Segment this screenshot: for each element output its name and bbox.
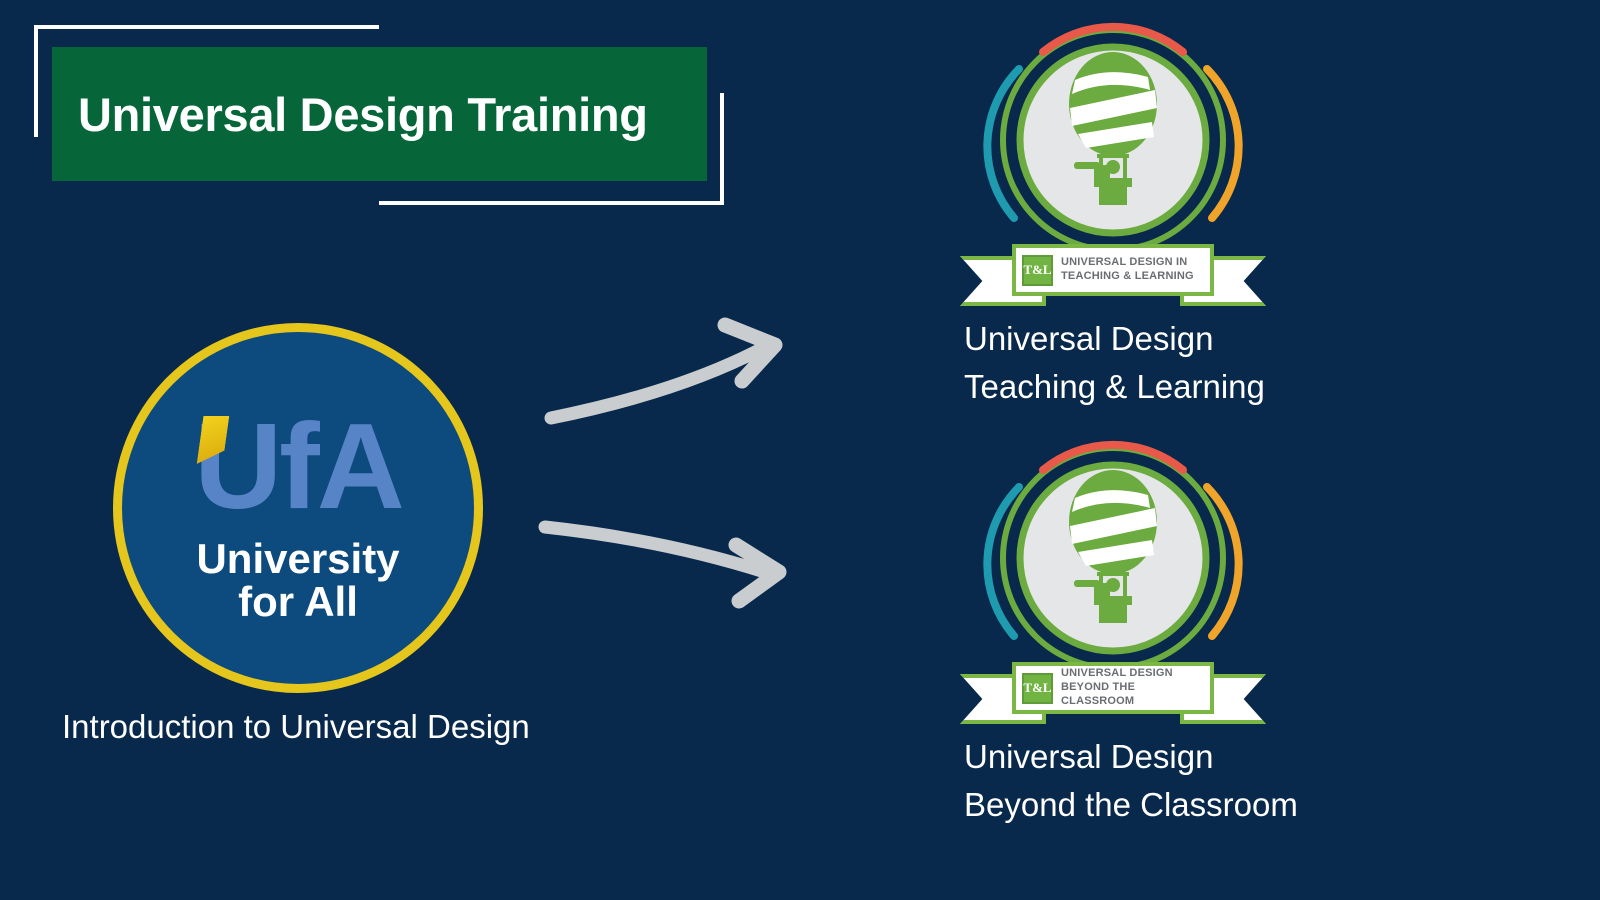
page-title: Universal Design Training [52, 87, 648, 142]
badge-ribbon: T&L UNIVERSAL DESIGN BEYOND THE CLASSROO… [960, 662, 1266, 728]
badge-caption: Universal Design Beyond the Classroom [964, 733, 1298, 829]
tl-logo-icon: T&L [1022, 673, 1053, 704]
arrow-to-beyond-classroom [545, 527, 779, 601]
badge-caption: Universal Design Teaching & Learning [964, 315, 1265, 411]
ufa-monogram: UfA [194, 402, 402, 530]
badge-ribbon: T&L UNIVERSAL DESIGN IN TEACHING & LEARN… [960, 244, 1266, 310]
title-block: Universal Design Training [34, 25, 724, 205]
ribbon-plate: T&L UNIVERSAL DESIGN BEYOND THE CLASSROO… [1012, 662, 1214, 714]
ufa-logo[interactable]: UfA University for All [113, 323, 483, 693]
badge-caption-line-2: Beyond the Classroom [964, 781, 1298, 829]
badge-medallion-icon [958, 440, 1268, 690]
slide-canvas: Universal Design Training UfA University… [0, 0, 1600, 900]
badge-medallion-icon [958, 22, 1268, 272]
badge-graphic: T&L UNIVERSAL DESIGN BEYOND THE CLASSROO… [958, 440, 1268, 725]
ribbon-line-2: TEACHING & LEARNING [1061, 270, 1194, 284]
ribbon-line-2: BEYOND THE CLASSROOM [1061, 681, 1210, 709]
ribbon-line-1: UNIVERSAL DESIGN IN [1061, 256, 1194, 270]
ufa-wordmark-line2: for All [238, 581, 358, 624]
badge-card-teaching-learning[interactable]: T&L UNIVERSAL DESIGN IN TEACHING & LEARN… [958, 22, 1268, 307]
ufa-logo-circle: UfA University for All [113, 323, 483, 693]
intro-caption: Introduction to Universal Design [62, 708, 530, 746]
badge-caption-line-1: Universal Design [964, 315, 1265, 363]
badge-caption-line-2: Teaching & Learning [964, 363, 1265, 411]
badge-graphic: T&L UNIVERSAL DESIGN IN TEACHING & LEARN… [958, 22, 1268, 307]
badge-card-beyond-classroom[interactable]: T&L UNIVERSAL DESIGN BEYOND THE CLASSROO… [958, 440, 1268, 725]
ribbon-text: UNIVERSAL DESIGN IN TEACHING & LEARNING [1061, 256, 1194, 284]
badge-caption-line-1: Universal Design [964, 733, 1298, 781]
title-banner: Universal Design Training [52, 47, 707, 181]
arrow-to-teaching-learning [551, 325, 775, 418]
ribbon-line-1: UNIVERSAL DESIGN [1061, 667, 1210, 681]
ufa-wordmark-line1: University [196, 538, 399, 581]
tl-logo-icon: T&L [1022, 255, 1053, 286]
ribbon-text: UNIVERSAL DESIGN BEYOND THE CLASSROOM [1061, 667, 1210, 708]
ribbon-plate: T&L UNIVERSAL DESIGN IN TEACHING & LEARN… [1012, 244, 1214, 296]
